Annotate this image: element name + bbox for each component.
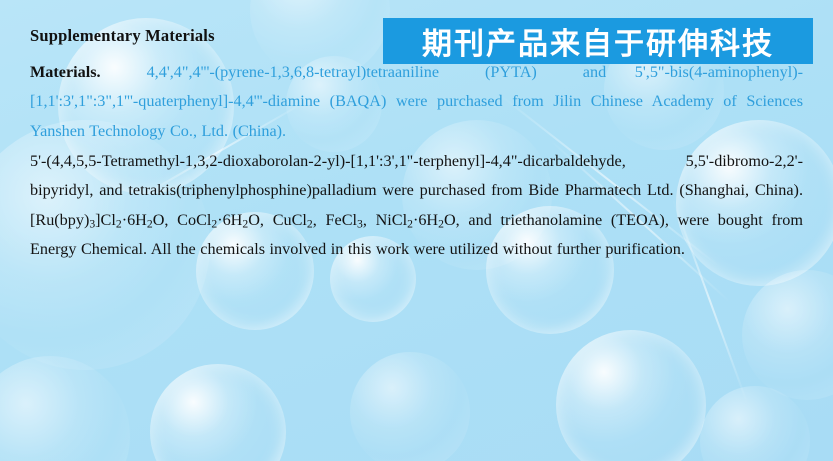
bubble-shape bbox=[742, 270, 833, 400]
conjunction-and: and bbox=[583, 63, 606, 81]
bubble-shape bbox=[556, 330, 706, 461]
abbreviation-pyta: (PYTA) bbox=[485, 63, 537, 81]
chemicals-text-part-7: , FeCl bbox=[313, 211, 357, 229]
chemicals-text-part-2: ]Cl bbox=[95, 211, 116, 229]
chemicals-text-part-6: O, CuCl bbox=[248, 211, 307, 229]
chemicals-text-part-4: O, CoCl bbox=[153, 211, 212, 229]
bubble-shape bbox=[0, 356, 130, 461]
materials-paragraph-black: 5'-(4,4,5,5-Tetramethyl-1,3,2-dioxaborol… bbox=[30, 147, 803, 265]
bubble-shape bbox=[150, 364, 286, 461]
chemicals-text-part-8: , NiCl bbox=[363, 211, 407, 229]
chemicals-text-part-5: ·6H bbox=[217, 211, 242, 229]
chemical-name-pyta: 4,4',4",4'''-(pyrene-1,3,6,8-tetrayl)tet… bbox=[147, 63, 439, 81]
materials-paragraph-blue: Materials.4,4',4",4'''-(pyrene-1,3,6,8-t… bbox=[30, 58, 803, 147]
page-canvas: 期刊产品来自于研伸科技 Supplementary Materials Mate… bbox=[0, 0, 833, 461]
bubble-shape bbox=[350, 352, 470, 461]
materials-lead-label: Materials. bbox=[30, 63, 101, 81]
chemicals-text-part-9: ·6H bbox=[413, 211, 438, 229]
watermark-banner: 期刊产品来自于研伸科技 bbox=[383, 18, 813, 64]
watermark-banner-text: 期刊产品来自于研伸科技 bbox=[422, 19, 774, 63]
chemicals-text-part-3: ·6H bbox=[122, 211, 147, 229]
bubble-shape bbox=[700, 386, 810, 461]
